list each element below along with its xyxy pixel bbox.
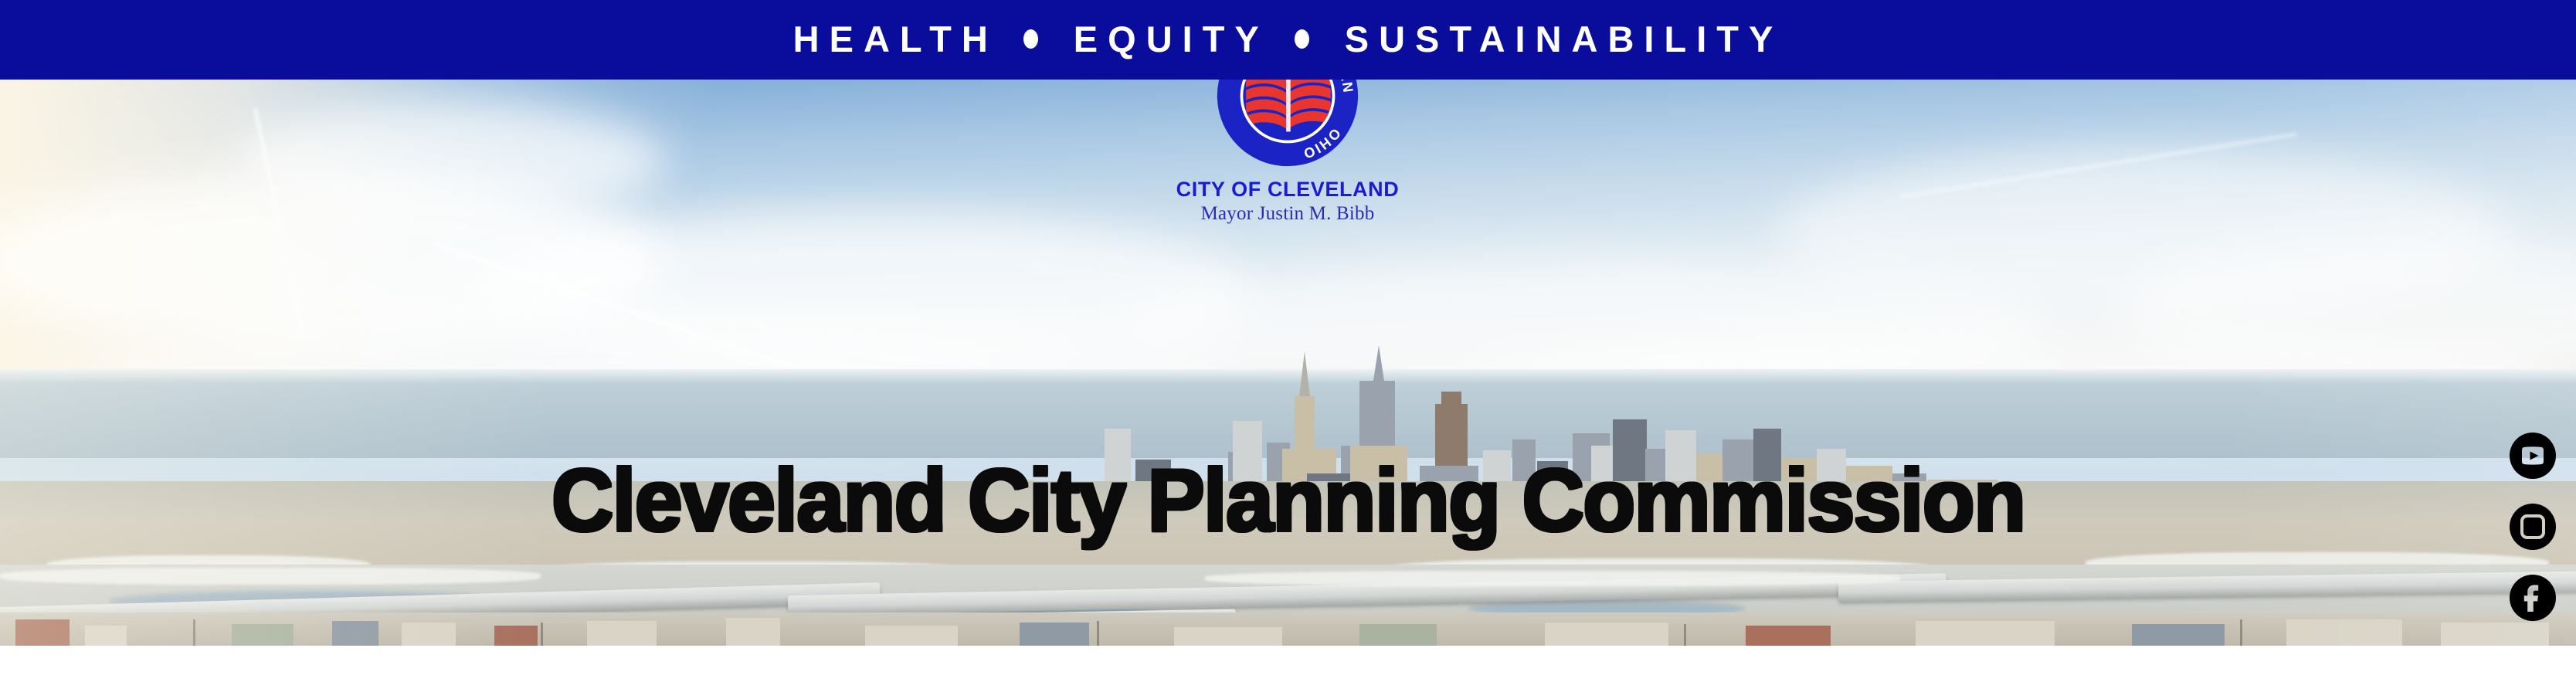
house [865, 626, 958, 646]
tagline-inner: HEALTH EQUITY SUSTAINABILITY [793, 21, 1784, 57]
house [2441, 623, 2549, 646]
snow-patch [1205, 571, 1900, 586]
house [1020, 623, 1089, 646]
tagline-word-health: HEALTH [793, 21, 998, 57]
tree [541, 623, 543, 646]
key-tower-spire [1373, 345, 1384, 381]
tagline-banner: HEALTH EQUITY SUSTAINABILITY [0, 0, 2576, 80]
social-media-rail [2510, 433, 2556, 621]
tree [1097, 621, 1099, 646]
tagline-word-sustainability: SUSTAINABILITY [1345, 21, 1784, 57]
instagram-icon[interactable] [2510, 504, 2556, 550]
freeway [1838, 570, 2576, 602]
tree [1684, 624, 1686, 646]
youtube-icon[interactable] [2510, 433, 2556, 479]
tree [193, 619, 195, 646]
snow-patch [0, 568, 541, 585]
house [1746, 626, 1831, 646]
tagline-separator-dot-1 [1023, 29, 1038, 49]
tagline-separator-dot-2 [1295, 29, 1309, 49]
tree [2240, 619, 2242, 646]
terminal-tower-spire [1299, 351, 1310, 396]
house [232, 624, 294, 646]
house [1174, 627, 1282, 646]
house [587, 621, 657, 646]
facebook-icon[interactable] [2510, 575, 2556, 621]
house [1545, 623, 1668, 646]
logo-mayor-name: Mayor Justin M. Bibb [1079, 204, 1496, 224]
tagline-word-equity: EQUITY [1074, 21, 1269, 57]
church [726, 618, 780, 646]
logo-city-name: CITY OF CLEVELAND [1079, 178, 1496, 200]
house [402, 623, 456, 646]
house [2132, 624, 2225, 646]
house [332, 621, 378, 646]
house [1916, 621, 2055, 646]
page-title: Cleveland City Planning Commission [25, 457, 2550, 545]
apartment-block [2286, 619, 2402, 646]
house [494, 626, 538, 646]
house [15, 619, 70, 646]
foreground-neighborhood [0, 612, 2576, 646]
house [1359, 624, 1437, 646]
cloud [232, 103, 664, 219]
page-root: HEALTH EQUITY SUSTAINABILITY [0, 0, 2576, 682]
house [85, 626, 127, 646]
